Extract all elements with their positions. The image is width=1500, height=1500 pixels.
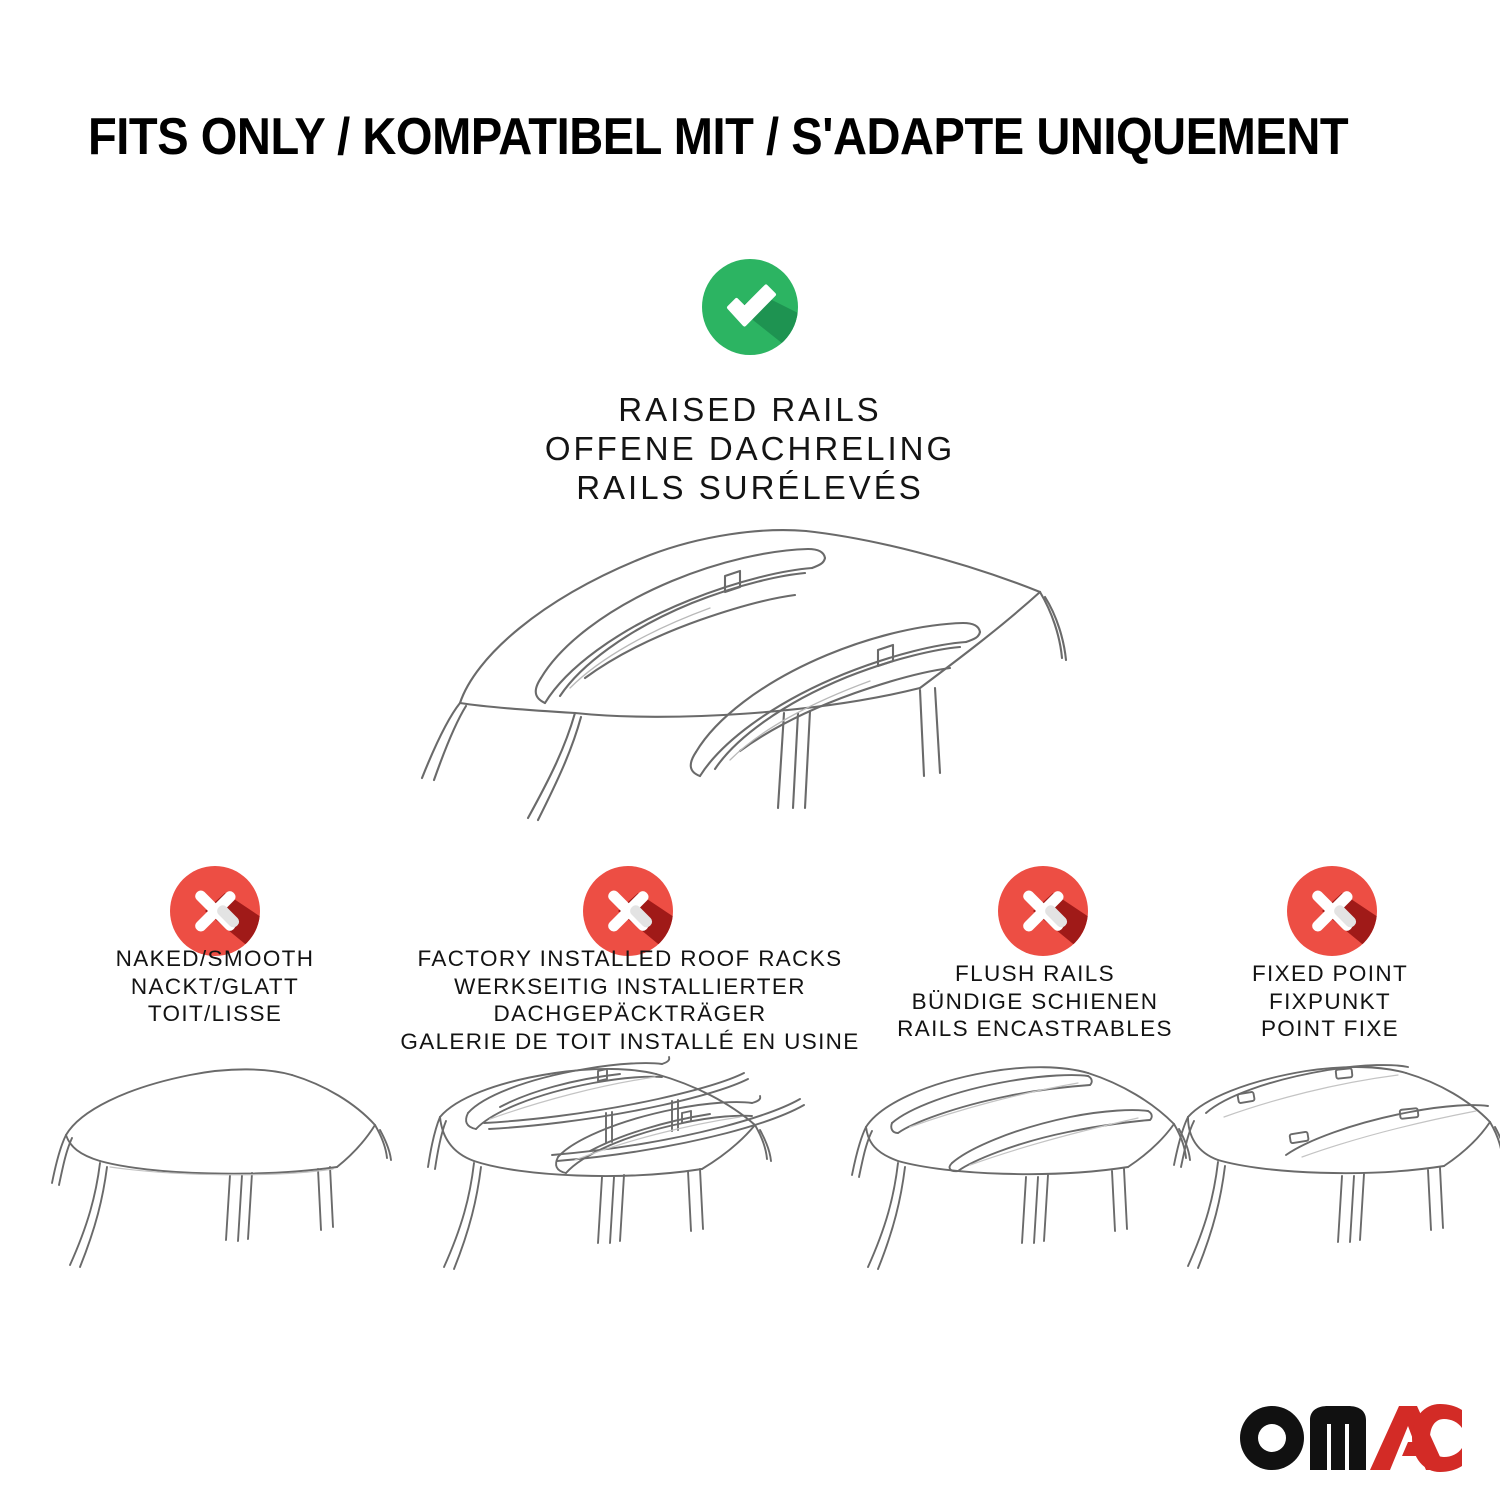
caption-line: GALERIE DE TOIT INSTALLÉ EN USINE [400,1028,860,1056]
x-circle-icon [582,865,674,957]
x-circle-icon [1286,865,1378,957]
compatible-line-en: RAISED RAILS [250,390,1250,429]
compatible-line-fr: RAILS SURÉLEVÉS [250,468,1250,507]
logo-letter-m [1310,1406,1366,1470]
logo-letter-o [1240,1406,1304,1470]
caption-line: FIXPUNKT [1160,988,1500,1016]
check-circle-icon [698,255,802,359]
logo-letter-c [1412,1404,1462,1472]
omac-logo [1236,1398,1462,1474]
caption-line: FACTORY INSTALLED ROOF RACKS [400,945,860,973]
page-title: FITS ONLY / KOMPATIBEL MIT / S'ADAPTE UN… [88,108,1292,168]
caption-line: NAKED/SMOOTH [15,945,415,973]
column-caption: FIXED POINT FIXPUNKT POINT FIXE [1160,960,1500,1043]
car-roof-raised-rails-illustration [400,508,1100,828]
caption-line: TOIT/LISSE [15,1000,415,1028]
column-caption: NAKED/SMOOTH NACKT/GLATT TOIT/LISSE [15,945,415,1028]
caption-line: DACHGEPÄCKTRÄGER [400,1000,860,1028]
x-circle-icon [997,865,1089,957]
caption-line: WERKSEITIG INSTALLIERTER [400,973,860,1001]
caption-line: POINT FIXE [1160,1015,1500,1043]
column-caption: FACTORY INSTALLED ROOF RACKS WERKSEITIG … [400,945,860,1055]
car-roof-naked-smooth-illustration [30,1055,410,1290]
car-roof-fixed-point-illustration [1160,1055,1500,1290]
compatible-caption: RAISED RAILS OFFENE DACHRELING RAILS SUR… [250,390,1250,507]
x-circle-icon [169,865,261,957]
fitment-infographic: FITS ONLY / KOMPATIBEL MIT / S'ADAPTE UN… [0,0,1500,1500]
compatible-line-de: OFFENE DACHRELING [250,429,1250,468]
caption-line: NACKT/GLATT [15,973,415,1001]
car-roof-factory-racks-illustration [410,1055,810,1290]
caption-line: FIXED POINT [1160,960,1500,988]
